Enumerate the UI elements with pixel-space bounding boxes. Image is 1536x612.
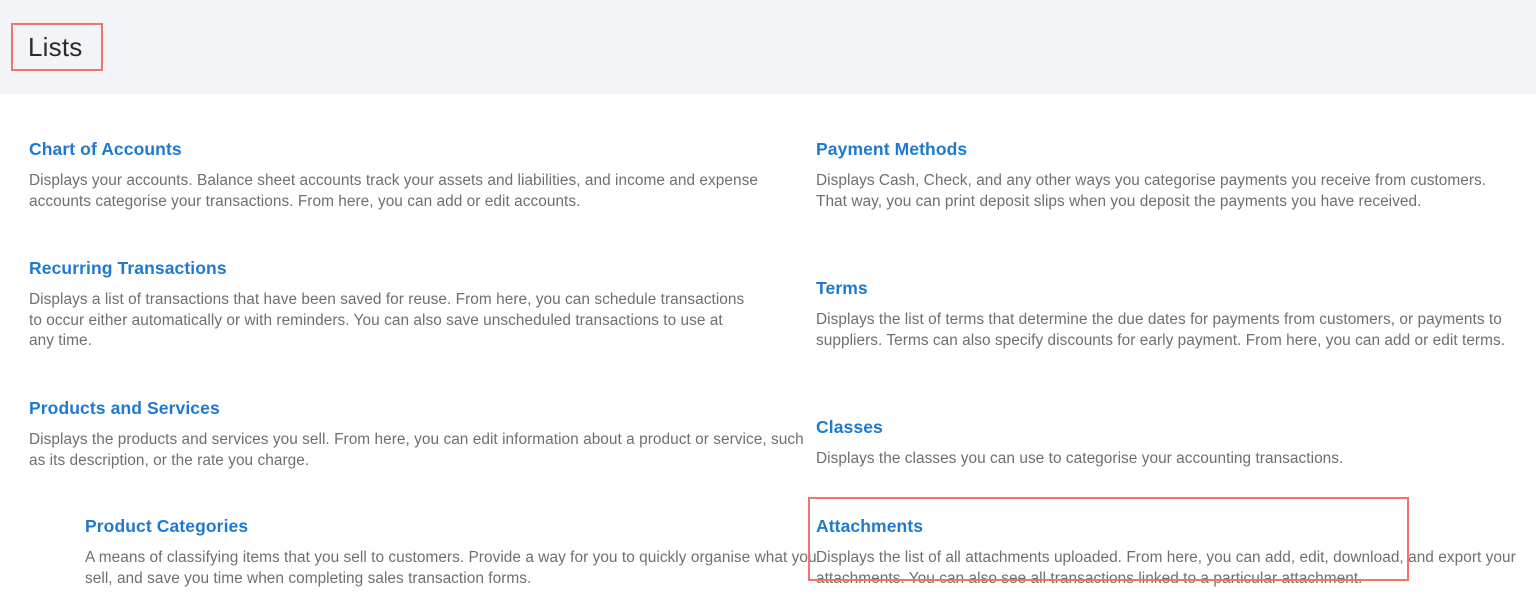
list-item-description: A means of classifying items that you se… xyxy=(85,548,819,589)
page-title: Lists xyxy=(28,34,82,60)
list-item-description: Displays your accounts. Balance sheet ac… xyxy=(29,171,789,212)
list-item-title-link[interactable]: Payment Methods xyxy=(816,138,1516,160)
list-item-title-link[interactable]: Recurring Transactions xyxy=(29,257,747,279)
list-item-title-link[interactable]: Terms xyxy=(816,277,1516,299)
list-item: AttachmentsDisplays the list of all atta… xyxy=(816,515,1526,589)
list-item-title-link[interactable]: Classes xyxy=(816,416,1516,438)
list-item-title-link[interactable]: Attachments xyxy=(816,515,1526,537)
list-item-description: Displays the list of terms that determin… xyxy=(816,310,1516,351)
page-title-highlight-box: Lists xyxy=(11,23,103,71)
list-item-description: Displays the products and services you s… xyxy=(29,430,804,471)
list-item: ClassesDisplays the classes you can use … xyxy=(816,416,1516,470)
list-item-description: Displays a list of transactions that hav… xyxy=(29,290,747,352)
list-item: Products and ServicesDisplays the produc… xyxy=(29,397,804,471)
list-item-description: Displays the classes you can use to cate… xyxy=(816,449,1516,470)
list-item: Chart of AccountsDisplays your accounts.… xyxy=(29,138,789,212)
lists-content-area: Chart of AccountsDisplays your accounts.… xyxy=(0,94,1536,612)
list-item-description: Displays Cash, Check, and any other ways… xyxy=(816,171,1516,212)
list-item: Payment MethodsDisplays Cash, Check, and… xyxy=(816,138,1516,212)
list-item-description: Displays the list of all attachments upl… xyxy=(816,548,1526,589)
list-item-title-link[interactable]: Products and Services xyxy=(29,397,804,419)
list-item-title-link[interactable]: Product Categories xyxy=(85,515,819,537)
page-header-band: Lists xyxy=(0,0,1536,94)
list-item: Recurring TransactionsDisplays a list of… xyxy=(29,257,747,352)
list-item-title-link[interactable]: Chart of Accounts xyxy=(29,138,789,160)
list-item: Product CategoriesA means of classifying… xyxy=(29,515,819,589)
list-item: TermsDisplays the list of terms that det… xyxy=(816,277,1516,351)
